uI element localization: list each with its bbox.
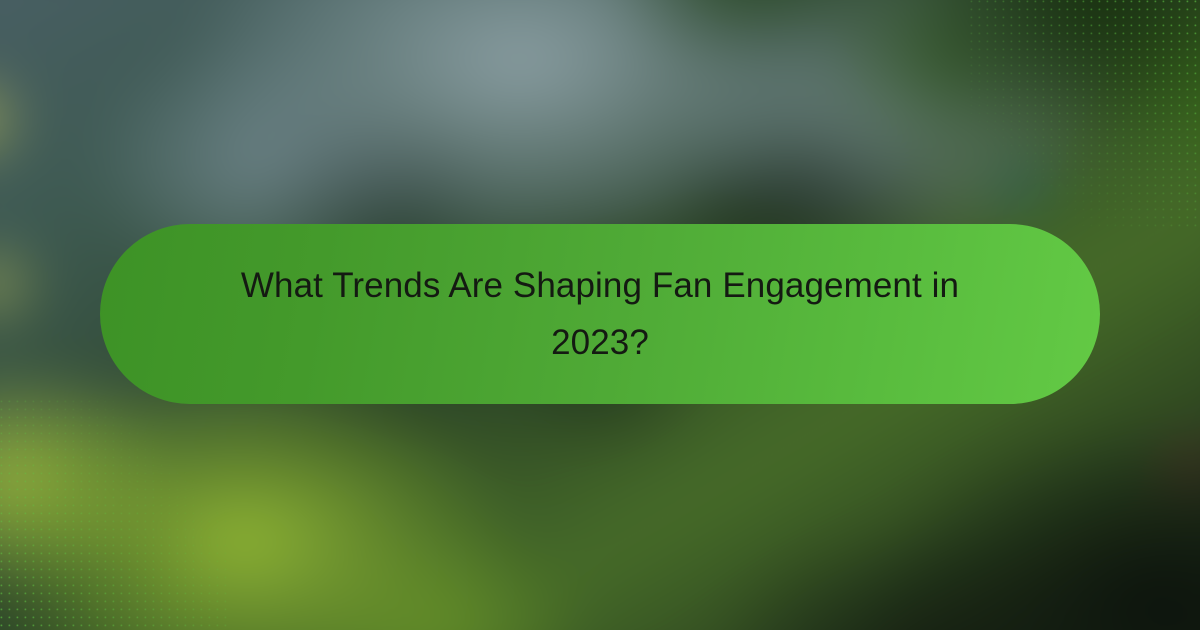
social-share-card: What Trends Are Shaping Fan Engagement i… bbox=[0, 0, 1200, 630]
page-title: What Trends Are Shaping Fan Engagement i… bbox=[190, 257, 1010, 371]
title-pill: What Trends Are Shaping Fan Engagement i… bbox=[100, 224, 1100, 404]
